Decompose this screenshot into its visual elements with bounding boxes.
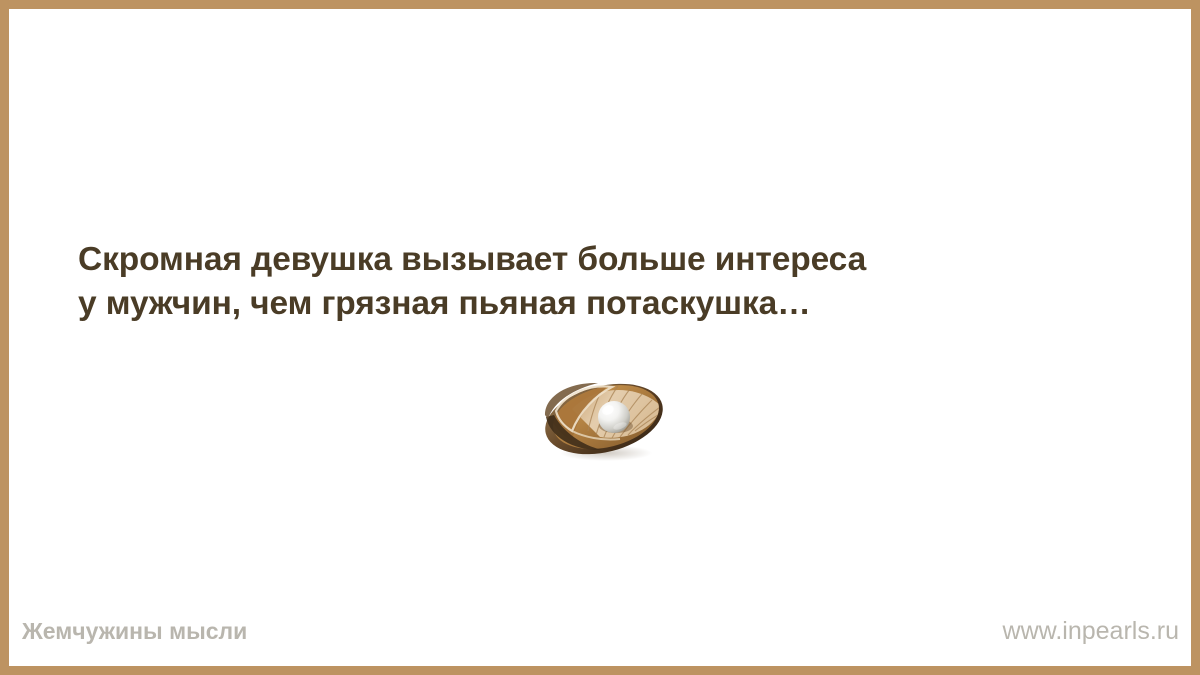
poster-canvas: Скромная девушка вызывает больше интерес…: [9, 9, 1191, 666]
poster-frame: Скромная девушка вызывает больше интерес…: [0, 0, 1200, 675]
oyster-shell-with-pearl-icon: [536, 371, 672, 463]
site-url[interactable]: www.inpearls.ru: [1003, 614, 1179, 648]
quote-text: Скромная девушка вызывает больше интерес…: [78, 238, 1138, 326]
site-brand: Жемчужины мысли: [22, 614, 247, 648]
footer: Жемчужины мысли www.inpearls.ru: [9, 614, 1191, 648]
